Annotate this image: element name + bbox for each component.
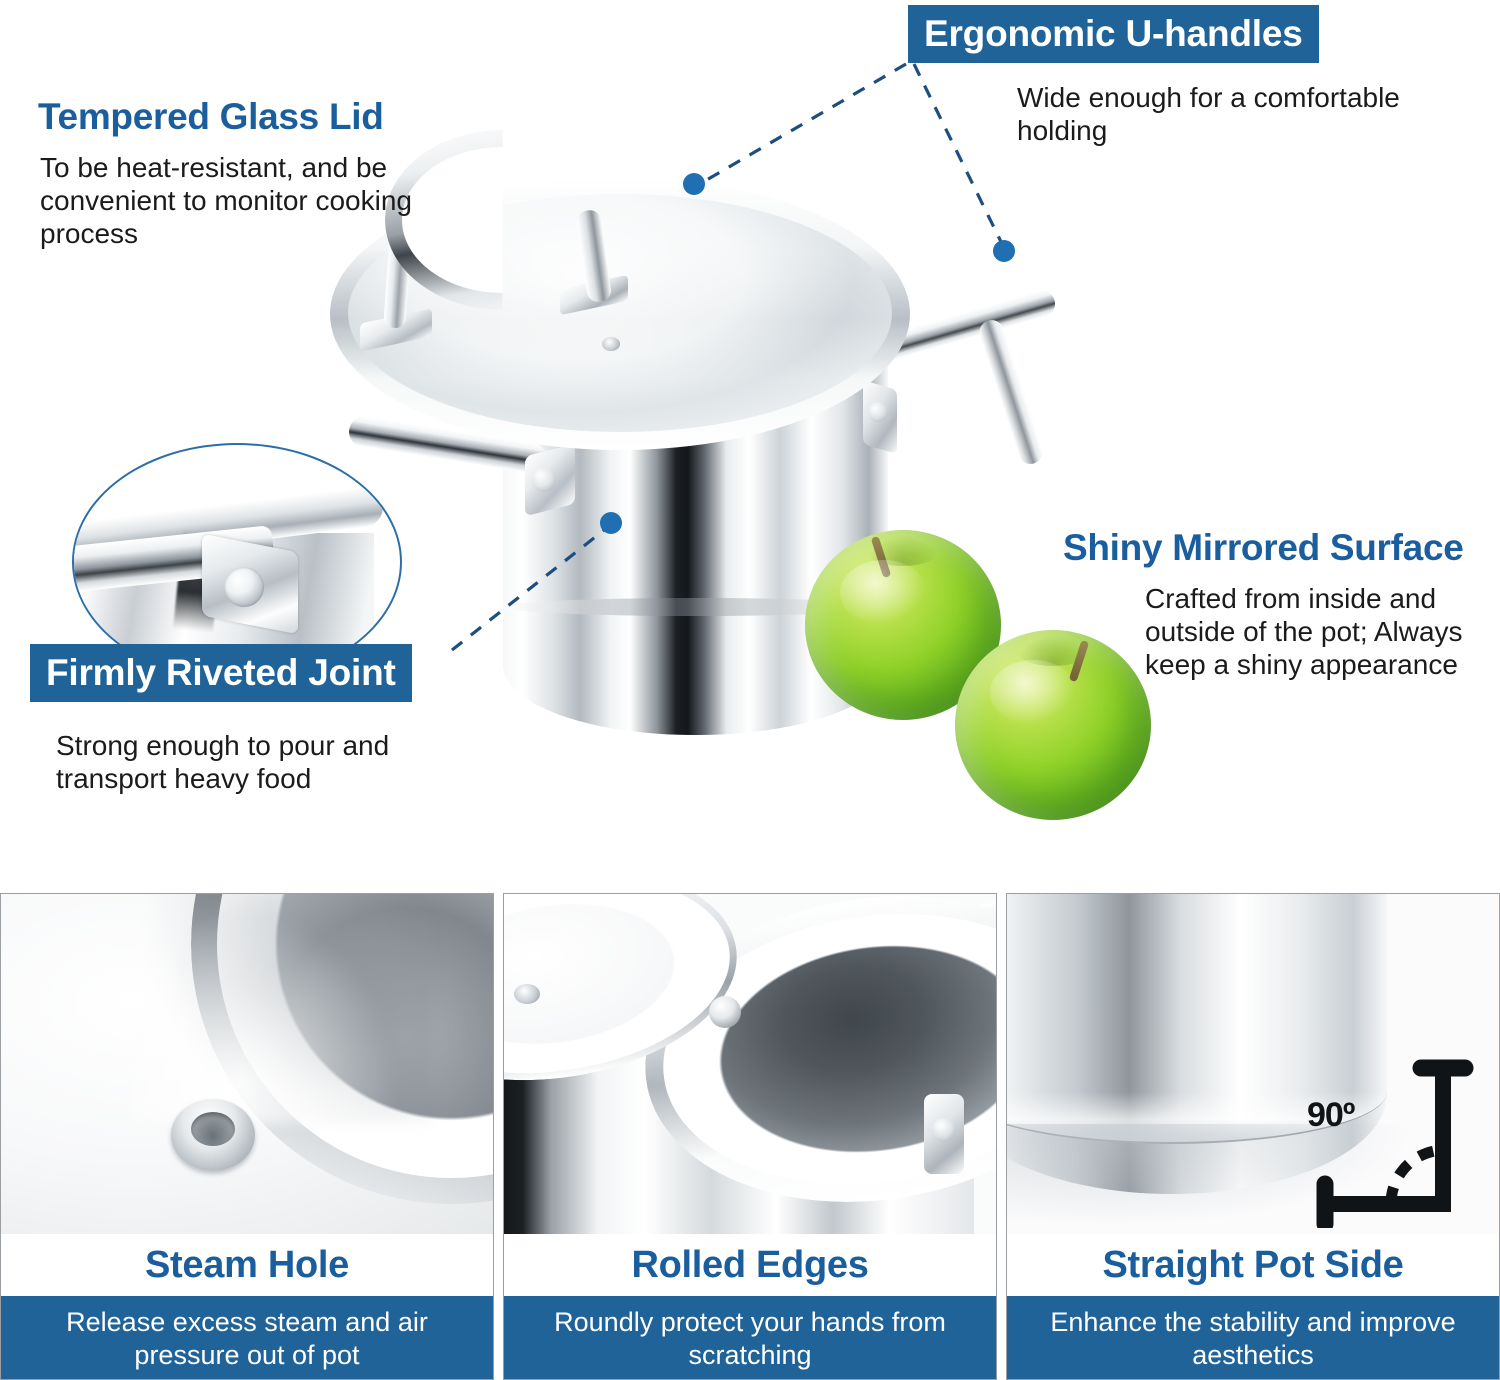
callout-dot-pot-handle — [993, 240, 1015, 262]
panel-photo-rolled-edges — [504, 894, 996, 1234]
angle-value-label: 90º — [1307, 1096, 1354, 1135]
rim-rivet — [709, 996, 741, 1028]
handle-rivet — [932, 1118, 956, 1142]
feature-title-tempered-glass-lid: Tempered Glass Lid — [38, 96, 384, 138]
callout-dot-lid-handle — [683, 173, 705, 195]
lid-steam-hole — [514, 984, 540, 1004]
feature-body-shiny-mirrored-surface: Crafted from inside and outside of the p… — [1145, 583, 1500, 681]
panel-photo-straight-pot-side: 90º — [1007, 894, 1499, 1234]
panel-desc-straight-pot-side: Enhance the stability and improve aesthe… — [1007, 1296, 1499, 1380]
feature-body-ergonomic-u-handles: Wide enough for a comfortable holding — [1017, 82, 1437, 148]
feature-badge-ergonomic-u-handles: Ergonomic U-handles — [908, 5, 1319, 63]
steam-plume — [131, 894, 431, 1124]
feature-title-shiny-mirrored-surface: Shiny Mirrored Surface — [1063, 527, 1464, 569]
feature-body-firmly-riveted-joint: Strong enough to pour and transport heav… — [56, 730, 476, 796]
steam-hole-opening — [191, 1112, 235, 1146]
panel-straight-pot-side: 90º Straight Pot Side Enhance the stabil… — [1006, 893, 1500, 1380]
feature-body-tempered-glass-lid: To be heat-resistant, and be convenient … — [40, 152, 460, 250]
feature-panel-row: Steam Hole Release excess steam and air … — [0, 893, 1500, 1380]
panel-title-straight-pot-side: Straight Pot Side — [1007, 1234, 1499, 1296]
panel-desc-rolled-edges: Roundly protect your hands from scratchi… — [504, 1296, 996, 1380]
right-angle-annotation: 90º — [1303, 1038, 1483, 1228]
panel-title-rolled-edges: Rolled Edges — [504, 1234, 996, 1296]
panel-steam-hole: Steam Hole Release excess steam and air … — [0, 893, 494, 1380]
feature-badge-firmly-riveted-joint: Firmly Riveted Joint — [30, 644, 412, 702]
callout-dot-rivet — [600, 512, 622, 534]
panel-desc-steam-hole: Release excess steam and air pressure ou… — [1, 1296, 493, 1380]
panel-title-steam-hole: Steam Hole — [1, 1234, 493, 1296]
panel-photo-steam-hole — [1, 894, 493, 1234]
hero-section: Tempered Glass Lid To be heat-resistant,… — [0, 0, 1500, 893]
panel-rolled-edges: Rolled Edges Roundly protect your hands … — [503, 893, 997, 1380]
